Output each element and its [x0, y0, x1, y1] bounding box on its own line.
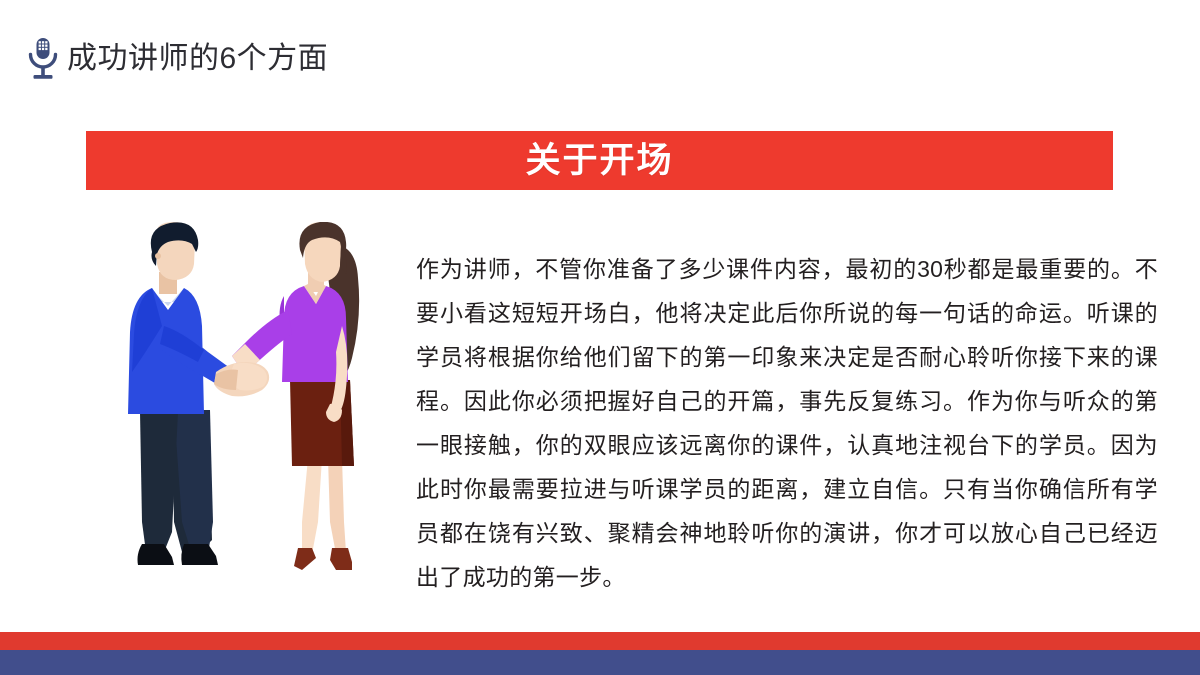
- page-title: 成功讲师的6个方面: [67, 44, 328, 74]
- body-paragraph: 作为讲师，不管你准备了多少课件内容，最初的30秒都是最重要的。不要小看这短短开场…: [416, 247, 1158, 599]
- woman-figure: [232, 222, 359, 570]
- man-figure: [128, 222, 230, 565]
- slide-header: 成功讲师的6个方面: [26, 36, 328, 82]
- microphone-icon: [26, 37, 60, 81]
- footer-bar-navy: [0, 650, 1200, 675]
- handshake-illustration: [112, 222, 404, 582]
- section-banner-title: 关于开场: [525, 143, 673, 178]
- footer-bar-red: [0, 632, 1200, 650]
- section-banner: 关于开场: [86, 131, 1113, 190]
- presentation-slide: 成功讲师的6个方面 关于开场: [0, 0, 1200, 675]
